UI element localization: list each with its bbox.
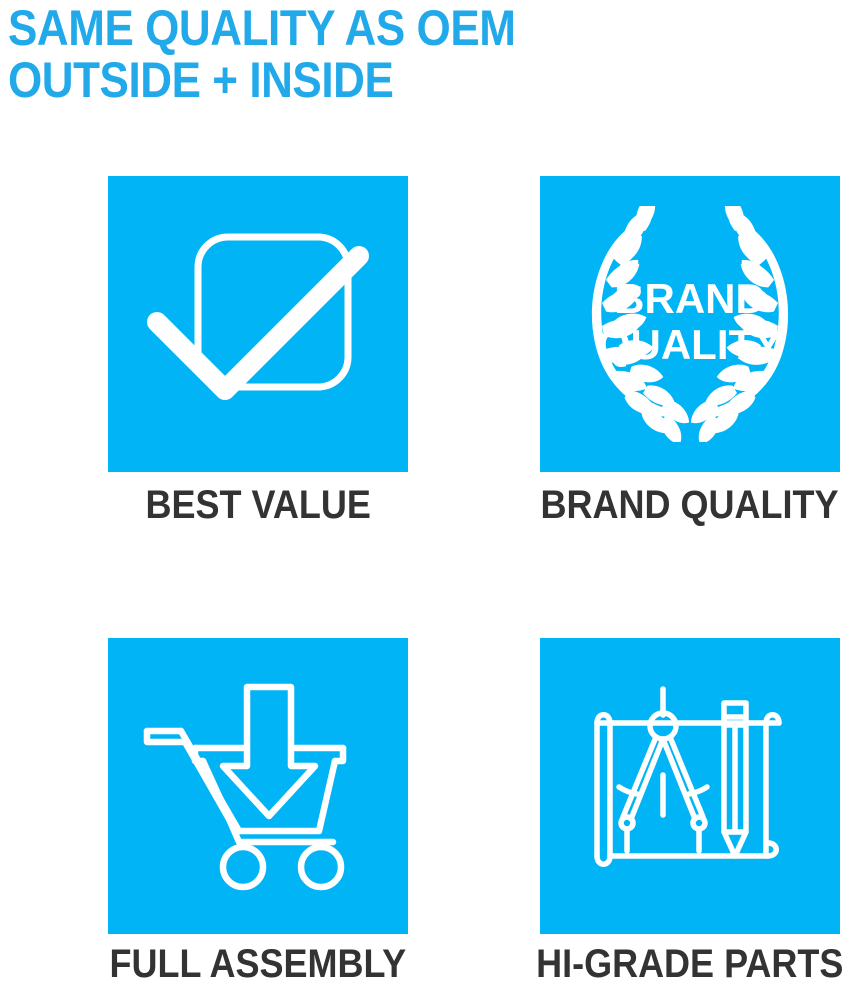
feature-tile-best-value[interactable] bbox=[108, 176, 408, 472]
wreath-label-brand: BRAND bbox=[614, 275, 766, 322]
shopping-cart-download-icon bbox=[143, 679, 373, 894]
feature-row-bottom: FULL ASSEMBLY bbox=[108, 638, 840, 986]
feature-caption-best-value: BEST VALUE bbox=[145, 483, 370, 527]
feature-caption-full-assembly: FULL ASSEMBLY bbox=[110, 942, 407, 986]
headline-line-1: SAME QUALITY AS OEM bbox=[8, 2, 752, 54]
headline-line-2: OUTSIDE + INSIDE bbox=[8, 54, 752, 106]
feature-grid: BEST VALUE bbox=[108, 176, 840, 986]
feature-tile-hi-grade-parts[interactable] bbox=[540, 638, 840, 934]
wreath-label-quality: QUALITY bbox=[598, 321, 782, 368]
feature-cell-best-value[interactable]: BEST VALUE bbox=[108, 176, 408, 527]
feature-cell-hi-grade-parts[interactable]: HI-GRADE PARTS bbox=[540, 638, 840, 986]
feature-caption-brand-quality: BRAND QUALITY bbox=[541, 483, 839, 527]
feature-caption-hi-grade-parts: HI-GRADE PARTS bbox=[536, 942, 843, 986]
checkbox-checkmark-icon bbox=[143, 214, 373, 434]
feature-tile-full-assembly[interactable] bbox=[108, 638, 408, 934]
feature-cell-brand-quality[interactable]: BRAND QUALITY BRAND QUALITY bbox=[540, 176, 840, 527]
headline-block: SAME QUALITY AS OEM OUTSIDE + INSIDE bbox=[8, 2, 854, 106]
laurel-wreath-icon: BRAND QUALITY bbox=[565, 206, 815, 442]
feature-cell-full-assembly[interactable]: FULL ASSEMBLY bbox=[108, 638, 408, 986]
feature-tile-brand-quality[interactable]: BRAND QUALITY bbox=[540, 176, 840, 472]
feature-row-top: BEST VALUE bbox=[108, 176, 840, 527]
blueprint-compass-pencil-icon bbox=[583, 679, 798, 894]
